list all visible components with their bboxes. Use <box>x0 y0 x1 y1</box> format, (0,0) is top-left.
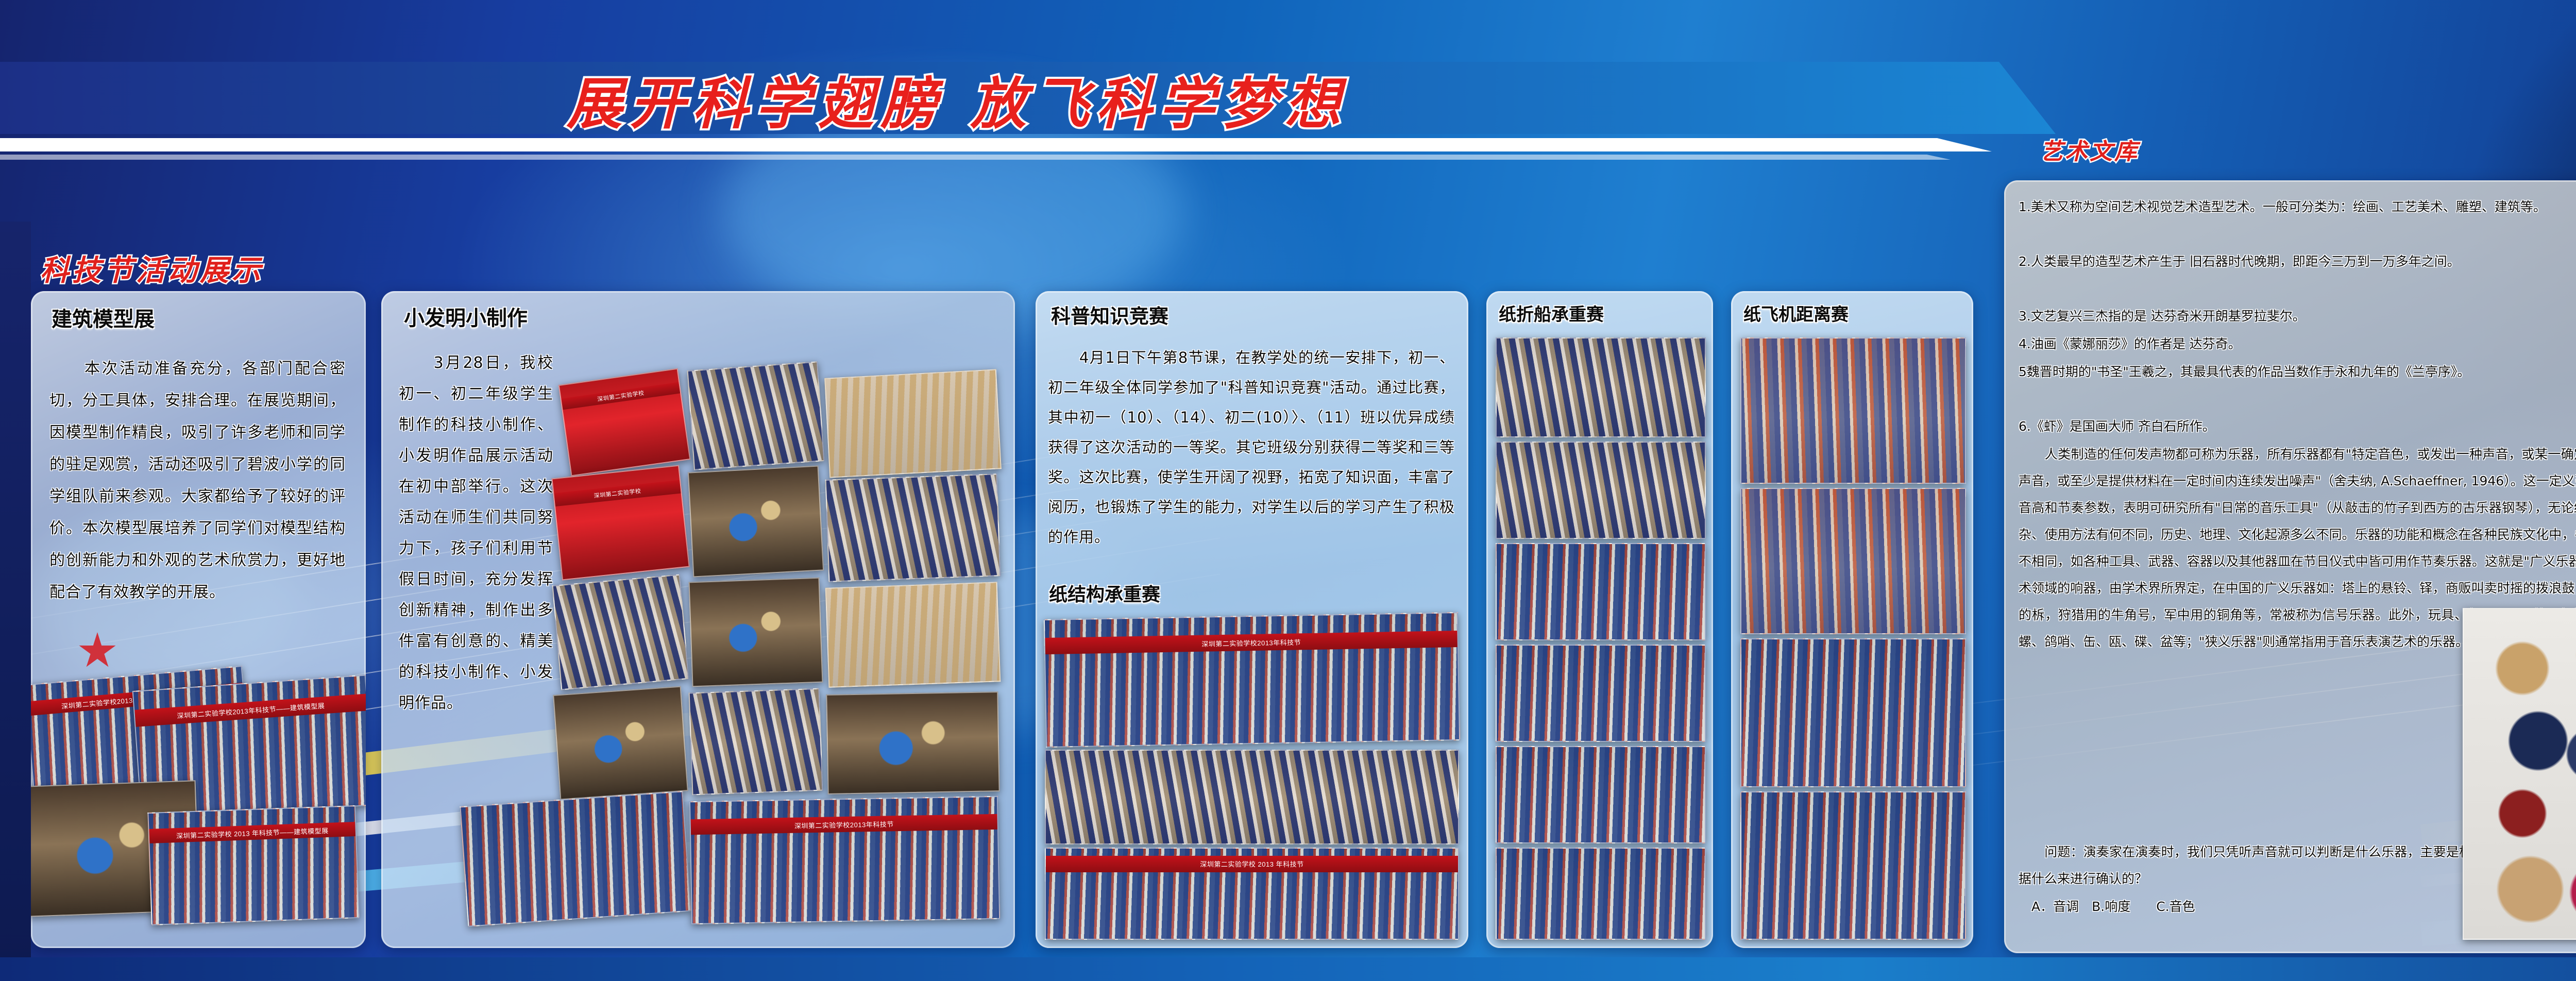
photo-boat-3 <box>1496 543 1706 640</box>
photo-caption: 深圳第二实验学校2013年科技节 <box>691 814 997 835</box>
panel-science-quiz: 科普知识竞赛 4月1日下午第8节课，在教学处的统一安排下，初一、初二年级全体同学… <box>1036 291 1468 948</box>
art-options: A．音调 B.响度 C.音色 <box>2019 893 2472 920</box>
left-edge-bar <box>0 222 31 981</box>
page-title: 展开科学翅膀 放飞科学梦想 <box>567 73 1597 135</box>
panel-building-model: 建筑模型展 本次活动准备充分，各部门配合密切，分工具体，安排合理。在展览期间，因… <box>31 291 366 948</box>
column-subtitle-paper-structure: 纸结构承重赛 <box>1049 580 1160 606</box>
column-title-small-invention: 小发明小制作 <box>404 301 528 331</box>
photo-invention-1: 深圳第二实验学校 <box>558 368 691 477</box>
column-title-paper-boat: 纸折船承重赛 <box>1499 300 1604 326</box>
photo-plane-3 <box>1740 638 1966 787</box>
photo-boat-5 <box>1496 746 1706 843</box>
photo-musical-instruments <box>2463 608 2576 940</box>
art-item-6: 6.《虾》是国画大师 齐白石所作。 <box>2019 413 2576 440</box>
photo-caption: 深圳第二实验学校2013年科技节——建筑模型展 <box>134 694 366 727</box>
art-item-4: 4.油画《蒙娜丽莎》的作者是 达芬奇。 <box>2019 331 2576 358</box>
title-rule-white <box>0 138 1994 151</box>
photo-caption: 深圳第二实验学校 2013 年科技节 <box>1046 856 1458 872</box>
photo-boat-6 <box>1496 848 1706 940</box>
photo-plane-1 <box>1740 337 1966 484</box>
title-rule-thin <box>0 155 1953 160</box>
photo-invention-7 <box>552 574 689 690</box>
section-heading-festival: 科技节活动展示 <box>40 247 264 289</box>
photo-invention-14: 深圳第二实验学校2013年科技节 <box>689 796 1000 924</box>
photo-quiz-3: 深圳第二实验学校 2013 年科技节 <box>1045 848 1459 940</box>
section-heading-art: 艺术文库 <box>2040 133 2139 166</box>
photo-boat-2 <box>1496 442 1706 539</box>
photo-invention-13 <box>460 791 691 927</box>
photo-invention-8 <box>689 578 823 687</box>
panel-small-invention: 小发明小制作 3月28日，我校初一、初二年级学生制作的科技小制作、小发明作品展示… <box>381 291 1015 948</box>
photo-caption: 深圳第二实验学校 <box>554 480 681 506</box>
art-item-3: 3.文艺复兴三杰指的是 达芬奇米开朗基罗拉斐尔。 <box>2019 303 2576 330</box>
art-item-5: 5魏晋时期的"书圣"王羲之，其最具代表的作品当数作于永和九年的《兰亭序》。 <box>2019 359 2576 385</box>
photo-boat-4 <box>1496 645 1706 742</box>
photo-invention-2 <box>687 361 825 470</box>
photo-invention-9 <box>825 582 1001 688</box>
photo-invention-12 <box>826 691 999 794</box>
photo-caption: 深圳第二实验学校 2013 年科技节——建筑模型展 <box>149 822 355 843</box>
bottom-strip <box>0 957 2576 981</box>
photo-plane-4 <box>1740 791 1966 940</box>
photo-plane-2 <box>1740 488 1966 634</box>
poster-board: 展开科学翅膀 放飞科学梦想 科技节活动展示 艺术文库 科学小百科 建筑模型展 本… <box>0 0 2576 981</box>
art-item-2: 2.人类最早的造型艺术产生于 旧石器时代晚期，即距今三万到一万多年之间。 <box>2019 248 2576 275</box>
photo-invention-11 <box>689 688 823 796</box>
photo-building-4: 深圳第二实验学校 2013 年科技节——建筑模型展 <box>147 805 359 925</box>
column-title-building-model: 建筑模型展 <box>52 302 155 332</box>
photo-quiz-2 <box>1045 750 1459 844</box>
column-body-science-quiz: 4月1日下午第8节课，在教学处的统一安排下，初一、初二年级全体同学参加了"科普知… <box>1048 343 1455 552</box>
column-title-paper-plane: 纸飞机距离赛 <box>1743 300 1849 326</box>
panel-paper-plane: 纸飞机距离赛 <box>1731 291 1973 948</box>
panel-art-library: 1.美术又称为空间艺术视觉艺术造型艺术。一般可分类为：绘画、工艺美术、雕塑、建筑… <box>2004 180 2576 953</box>
photo-invention-3 <box>824 369 1002 478</box>
photo-caption: 深圳第二实验学校 <box>561 382 680 410</box>
photo-invention-4: 深圳第二实验学校 <box>551 465 689 581</box>
panel-paper-boat: 纸折船承重赛 <box>1486 291 1713 948</box>
red-star-icon <box>78 632 116 670</box>
column-body-building-model: 本次活动准备充分，各部门配合密切，分工具体，安排合理。在展览期间，因模型制作精良… <box>49 353 346 608</box>
art-item-1: 1.美术又称为空间艺术视觉艺术造型艺术。一般可分类为：绘画、工艺美术、雕塑、建筑… <box>2019 194 2576 221</box>
photo-invention-10 <box>553 686 688 800</box>
column-title-science-quiz: 科普知识竞赛 <box>1051 300 1168 329</box>
column-body-small-invention: 3月28日，我校初一、初二年级学生制作的科技小制作、小发明作品展示活动在初中部举… <box>399 348 553 719</box>
photo-quiz-1: 深圳第二实验学校2013年科技节 <box>1044 612 1460 748</box>
photo-boat-1 <box>1496 337 1706 437</box>
photo-caption: 深圳第二实验学校2013年科技节 <box>1045 631 1458 654</box>
photo-invention-6 <box>825 473 1001 582</box>
art-question: 问题：演奏家在演奏时，我们只凭听声音就可以判断是什么乐器，主要是根据什么来进行确… <box>2019 839 2472 892</box>
photo-invention-5 <box>688 465 824 577</box>
